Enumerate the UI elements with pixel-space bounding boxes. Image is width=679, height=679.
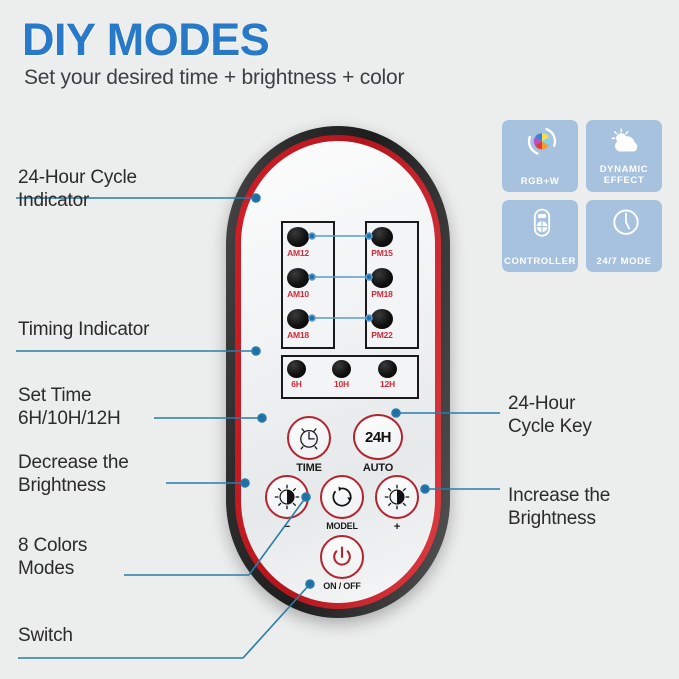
badge-label: DYNAMIC EFFECT — [586, 165, 662, 186]
badge-247-mode: 24/7 MODE — [586, 200, 662, 272]
callout-cycle-indicator: 24-Hour Cycle Indicator — [18, 166, 137, 212]
page-subtitle: Set your desired time + brightness + col… — [24, 66, 404, 90]
callout-switch: Switch — [18, 624, 73, 647]
feature-badge-grid: RGB+W DYNAMIC EFF — [502, 120, 662, 276]
callout-increase-brightness: Increase the Brightness — [508, 484, 610, 530]
callout-timing-indicator: Timing Indicator — [18, 318, 149, 341]
badge-label: RGB+W — [521, 177, 560, 188]
badge-label: CONTROLLER — [504, 257, 576, 268]
badge-dynamic-effect: DYNAMIC EFFECT — [586, 120, 662, 192]
remote-control-icon — [522, 206, 558, 240]
remote-face: AM12 AM10 AM18 PM15 PM18 PM22 — [241, 141, 435, 603]
badge-controller: CONTROLLER — [502, 200, 578, 272]
callout-set-time: Set Time 6H/10H/12H — [18, 384, 121, 430]
color-wheel-icon — [522, 126, 558, 160]
page-title: DIY MODES — [22, 14, 269, 66]
callout-decrease-brightness: Decrease the Brightness — [18, 451, 129, 497]
clock-icon — [606, 206, 642, 240]
infographic-page: DIY MODES Set your desired time + bright… — [0, 0, 679, 679]
sun-cloud-icon — [606, 126, 642, 160]
callout-cycle-key: 24-Hour Cycle Key — [508, 392, 592, 438]
internal-link-lines — [241, 141, 435, 603]
badge-rgbw: RGB+W — [502, 120, 578, 192]
badge-label: 24/7 MODE — [596, 257, 651, 268]
remote-control: AM12 AM10 AM18 PM15 PM18 PM22 — [226, 126, 450, 618]
callout-colors-modes: 8 Colors Modes — [18, 534, 87, 580]
